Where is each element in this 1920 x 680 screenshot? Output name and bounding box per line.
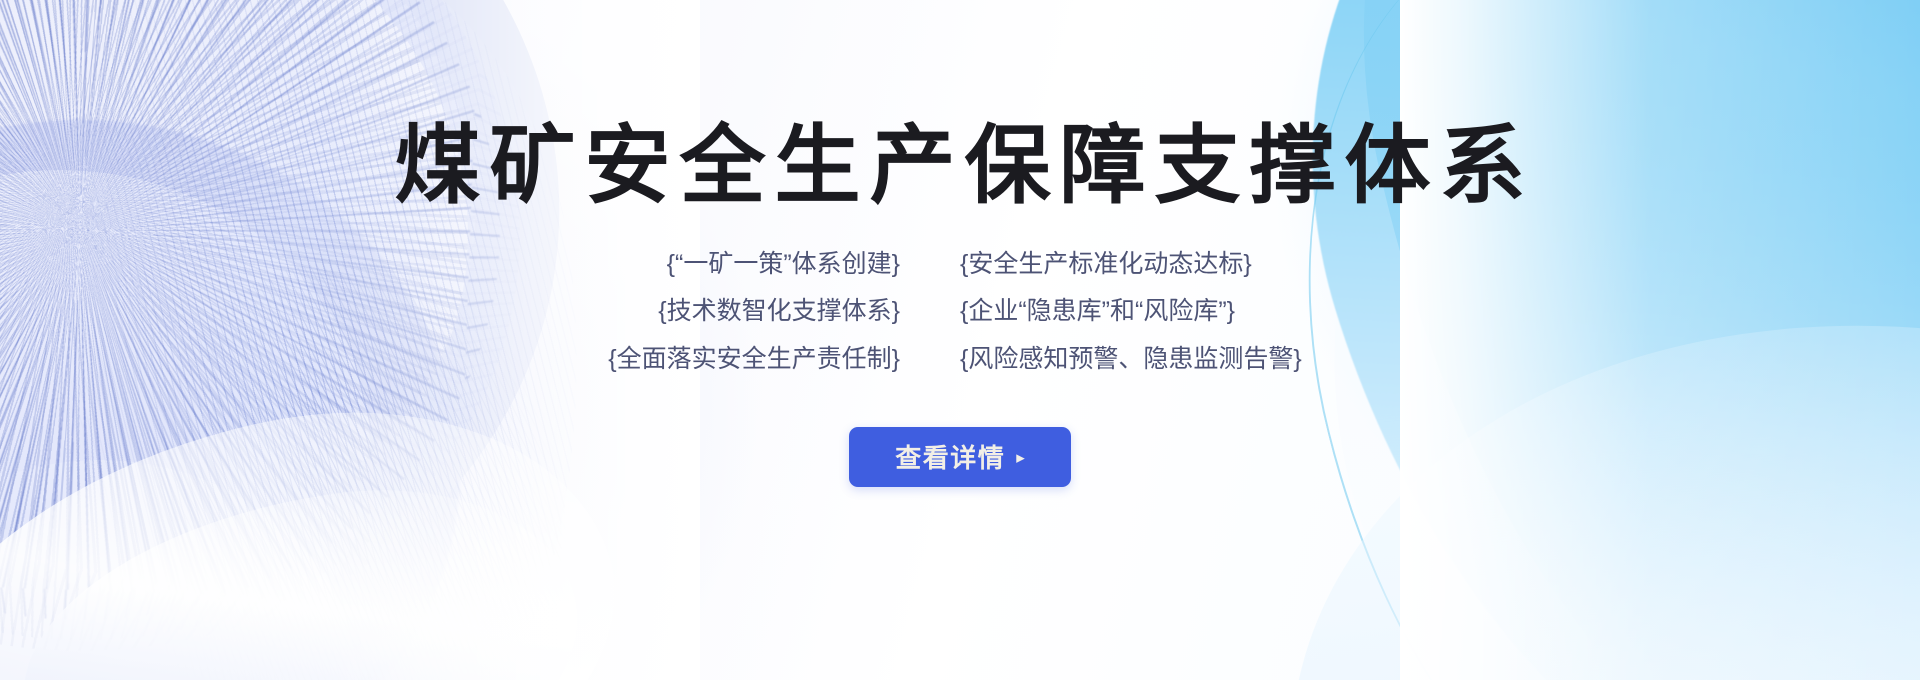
page-title: 煤矿安全生产保障支撑体系 xyxy=(386,123,1535,209)
feature-tag: {企业“隐患库”和“风险库”} xyxy=(960,298,1440,324)
view-details-button[interactable]: 查看详情 ▸ xyxy=(849,427,1071,487)
hero-banner: 煤矿安全生产保障支撑体系 {“一矿一策”体系创建} {安全生产标准化动态达标} … xyxy=(0,0,1920,680)
feature-tag: {风险感知预警、隐患监测告警} xyxy=(960,346,1440,372)
feature-tag: {技术数智化支撑体系} xyxy=(480,298,900,324)
feature-tag: {安全生产标准化动态达标} xyxy=(960,251,1440,277)
feature-tag: {全面落实安全生产责任制} xyxy=(480,346,900,372)
feature-tag-grid: {“一矿一策”体系创建} {安全生产标准化动态达标} {技术数智化支撑体系} {… xyxy=(480,251,1440,372)
cta-container: 查看详情 ▸ xyxy=(0,427,1920,487)
feature-tag: {“一矿一策”体系创建} xyxy=(480,251,900,277)
hero-content: 煤矿安全生产保障支撑体系 {“一矿一策”体系创建} {安全生产标准化动态达标} … xyxy=(0,0,1920,680)
arrow-right-icon: ▸ xyxy=(1016,449,1025,466)
view-details-label: 查看详情 xyxy=(895,438,1005,475)
